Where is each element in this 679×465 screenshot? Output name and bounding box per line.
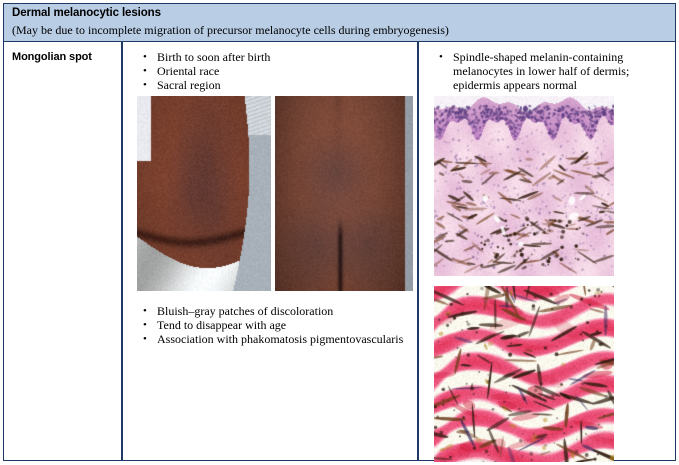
lesion-name-cell: Mongolian spot xyxy=(4,42,121,460)
list-item: Sacral region xyxy=(137,78,402,92)
page-title: Dermal melanocytic lesions xyxy=(12,7,161,19)
clinical-features-cell: Birth to soon after birth Oriental race … xyxy=(123,42,417,460)
list-item: Birth to soon after birth xyxy=(137,50,402,64)
table-header-band: Dermal melanocytic lesions (May be due t… xyxy=(4,4,675,42)
table-body: Mongolian spot Birth to soon after birth… xyxy=(4,42,675,460)
histology-high-power-spindle-melanocytes xyxy=(434,286,614,462)
histology-low-power-epidermis-dermis xyxy=(434,96,614,276)
clinical-features-bottom-list: Bluish–gray patches of discoloration Ten… xyxy=(137,304,412,347)
lesion-name-label: Mongolian spot xyxy=(12,51,92,63)
lesion-reference-table: Dermal melanocytic lesions (May be due t… xyxy=(3,3,676,461)
histology-cell: Spindle-shaped melanin-containing melano… xyxy=(419,42,675,460)
list-item: Tend to disappear with age xyxy=(137,318,412,332)
clinical-photo-sacral-back xyxy=(275,96,413,291)
header-subtitle: (May be due to incomplete migration of p… xyxy=(12,23,449,38)
list-item: Oriental race xyxy=(137,64,402,78)
list-item: Association with phakomatosis pigmentova… xyxy=(137,332,412,346)
list-item: Spindle-shaped melanin-containing melano… xyxy=(433,50,648,93)
clinical-features-top-list: Birth to soon after birth Oriental race … xyxy=(137,50,402,93)
list-item: Bluish–gray patches of discoloration xyxy=(137,304,412,318)
histology-features-list: Spindle-shaped melanin-containing melano… xyxy=(433,50,648,93)
clinical-photo-infant-flank xyxy=(137,96,271,291)
